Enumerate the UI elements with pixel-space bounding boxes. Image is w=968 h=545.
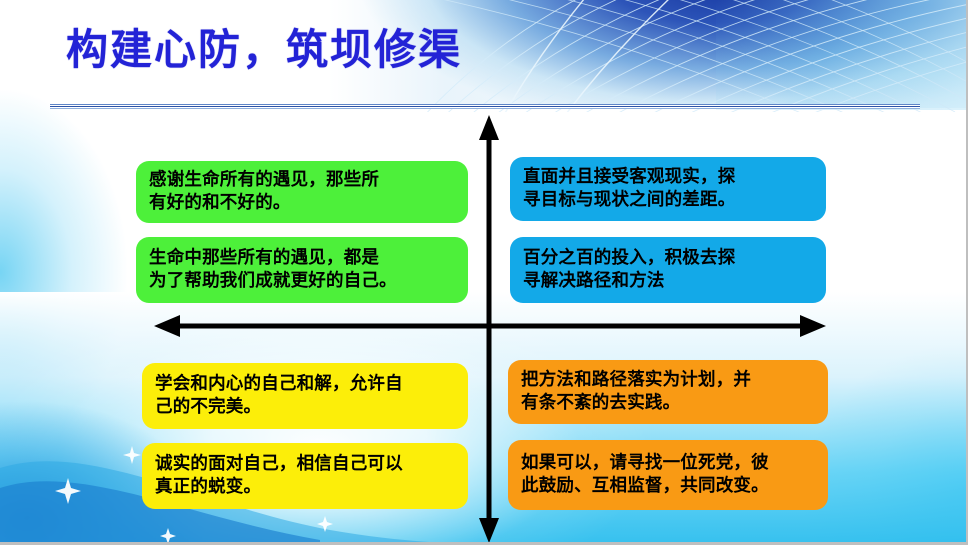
quadrant-box-top-right-1[interactable]: 直面并且接受客观现实，探 寻目标与现状之间的差距。 <box>510 157 826 221</box>
vertical-axis-arrow <box>479 115 499 543</box>
box-line-2: 为了帮助我们成就更好的自己。 <box>149 270 397 293</box>
box-line-1: 生命中那些所有的遇见，都是 <box>149 247 397 270</box>
box-line-1: 直面并且接受客观现实，探 <box>523 166 735 189</box>
box-line-1: 诚实的面对自己，相信自己可以 <box>155 453 403 476</box>
quadrant-box-bottom-right-1[interactable]: 把方法和路径落实为计划，并 有条不紊的去实践。 <box>508 360 828 424</box>
box-line-1: 学会和内心的自己和解，允许自 <box>155 373 403 396</box>
box-line-1: 把方法和路径落实为计划，并 <box>521 369 751 392</box>
quadrant-box-bottom-left-2[interactable]: 诚实的面对自己，相信自己可以 真正的蜕变。 <box>142 443 468 509</box>
quadrant-box-top-left-1[interactable]: 感谢生命所有的遇见，那些所 有好的和不好的。 <box>136 161 468 223</box>
presentation-slide: 构建心防，筑坝修渠 感谢生命所有的遇见，那些所 有好的和不好的。 生命中那些所有… <box>0 0 968 545</box>
quadrant-box-top-right-2[interactable]: 百分之百的投入，积极去探 寻解决路径和方法 <box>510 237 826 303</box>
box-line-1: 如果可以，请寻找一位死党，彼 <box>521 452 769 475</box>
box-line-2: 真正的蜕变。 <box>155 476 403 499</box>
quadrant-box-top-left-2[interactable]: 生命中那些所有的遇见，都是 为了帮助我们成就更好的自己。 <box>136 237 468 303</box>
box-line-2: 有好的和不好的。 <box>149 192 379 215</box>
quadrant-box-bottom-right-2[interactable]: 如果可以，请寻找一位死党，彼 此鼓励、互相监督，共同改变。 <box>508 440 828 510</box>
box-line-1: 百分之百的投入，积极去探 <box>523 247 735 270</box>
box-line-2: 己的不完美。 <box>155 396 403 419</box>
box-line-2: 寻解决路径和方法 <box>523 270 735 293</box>
box-line-2: 有条不紊的去实践。 <box>521 392 751 415</box>
box-line-2: 寻目标与现状之间的差距。 <box>523 189 735 212</box>
box-line-1: 感谢生命所有的遇见，那些所 <box>149 169 379 192</box>
quadrant-box-bottom-left-1[interactable]: 学会和内心的自己和解，允许自 己的不完美。 <box>142 363 468 429</box>
box-line-2: 此鼓励、互相监督，共同改变。 <box>521 475 769 498</box>
